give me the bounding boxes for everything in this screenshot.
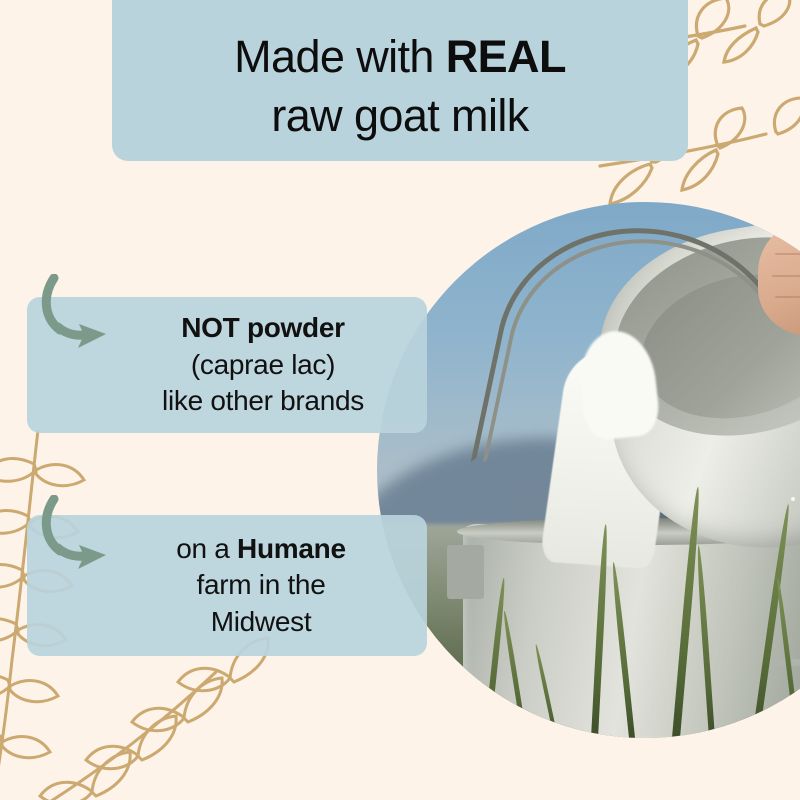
feature-1-emphasis: NOT powder	[181, 312, 344, 343]
feature-2-line-1: on a Humane	[176, 531, 345, 567]
feature-1-line-2: (caprae lac)	[191, 347, 335, 383]
header-line-2: raw goat milk	[271, 87, 528, 146]
feature-callout-not-powder: NOT powder (caprae lac) like other brand…	[27, 297, 427, 433]
header-line-1-emphasis: REAL	[446, 31, 566, 82]
poster-canvas: Made with REAL raw goat milk	[0, 0, 800, 800]
feature-2-prefix: on a	[176, 533, 237, 564]
photo-milk-droplet	[791, 497, 795, 501]
photo-composition	[377, 202, 800, 738]
raw-milk-pouring-photo	[377, 202, 800, 738]
feature-callout-humane-farm: on a Humane farm in the Midwest	[27, 515, 427, 656]
feature-1-line-1: NOT powder	[181, 310, 344, 346]
header-line-1: Made with REAL	[234, 28, 566, 87]
photo-lower-pot-lug	[447, 545, 485, 599]
feature-2-emphasis: Humane	[237, 533, 346, 564]
feature-2-line-2: farm in the	[197, 567, 326, 603]
header-line-1-prefix: Made with	[234, 31, 446, 82]
feature-2-line-3: Midwest	[211, 604, 312, 640]
feature-1-line-3: like other brands	[162, 383, 364, 419]
header-banner: Made with REAL raw goat milk	[112, 0, 688, 161]
